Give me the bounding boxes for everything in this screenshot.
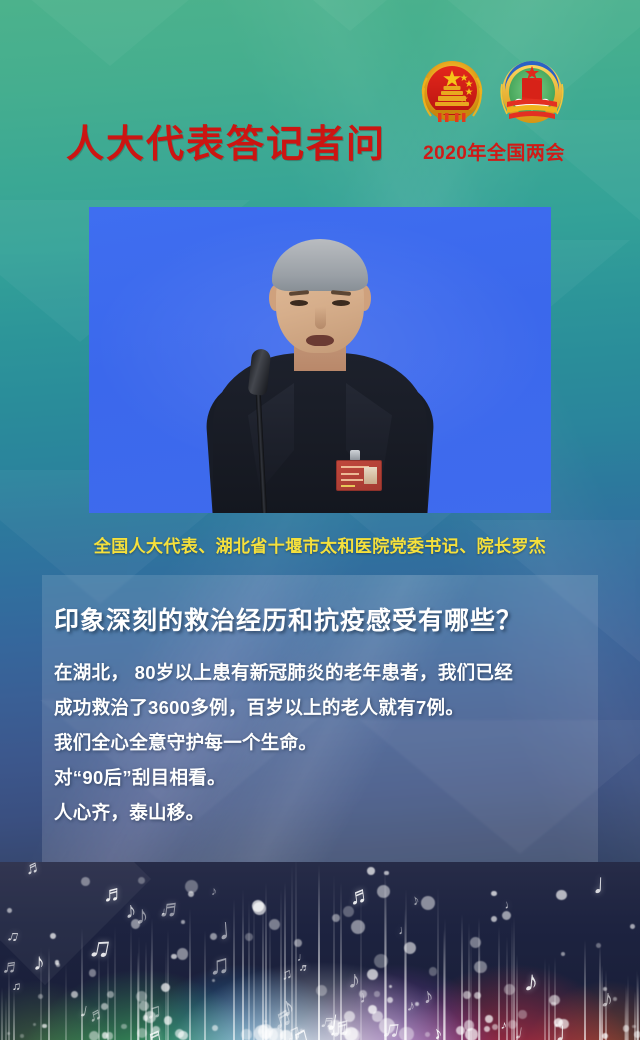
bokeh-dot [421,896,435,910]
light-beam [48,947,50,1040]
music-note-icon: ♪ [211,885,218,897]
bokeh-dot [241,1029,252,1040]
music-note-icon: ♪ [421,985,435,1007]
poster-header: 人大代表答记者问 [0,0,640,200]
bokeh-dot [33,1023,36,1026]
bokeh-dot [596,943,601,948]
cppcc-emblem-icon [499,58,565,130]
music-note-icon: ♪ [523,968,540,998]
bokeh-dot [556,890,566,900]
light-beam [461,914,463,1040]
bokeh-dot [89,1031,99,1040]
eye-left [290,300,308,306]
music-note-icon: ♬ [141,1022,172,1040]
bokeh-dot [630,924,635,929]
bokeh-dot [474,992,481,999]
light-beam [1,987,3,1040]
bokeh-dot [367,969,378,980]
question-headline: 印象深刻的救治经历和抗疫感受有哪些？ [54,601,522,637]
music-note-icon: ♪ [33,951,45,975]
bokeh-dot [177,948,188,959]
bokeh-dot [81,877,90,886]
nose [315,307,326,329]
music-note-icon: ♫ [280,966,294,983]
bokeh-dot [367,867,375,875]
music-note-icon: ♫ [146,1001,163,1023]
answer-line: 成功救治了3600多例，百岁以上的老人就有7例。 [54,690,588,725]
bokeh-dot [107,991,114,998]
music-note-icon: ♩ [217,912,250,945]
light-beam [138,936,140,1040]
bokeh-dot [634,1031,640,1038]
bokeh-dot [561,952,565,956]
bokeh-dot [463,991,471,999]
music-note-icon: ♩ [325,1007,358,1040]
bokeh-dot [20,1034,24,1038]
bokeh-dot [188,891,194,897]
bokeh-dot [161,983,170,992]
suit-jacket [213,353,427,513]
badge-portrait [364,467,377,484]
hair [272,239,368,291]
music-note-icon: ♩ [555,1018,585,1040]
eye-right [332,300,350,306]
footer-corner-shape [0,862,151,985]
light-beam [65,963,67,1040]
bokeh-dot [368,1005,377,1014]
music-note-icon: ♫ [284,1021,313,1040]
bokeh-dot [332,914,340,922]
bokeh-dot [38,994,44,1000]
light-beam [360,890,362,1040]
answer-line: 我们全心全意守护每一个生命。 [54,725,588,760]
bokeh-dot [504,984,515,995]
bokeh-dot [623,1025,629,1031]
bokeh-dot [121,1024,127,1030]
light-beam [437,888,439,1040]
photo-caption: 全国人大代表、湖北省十堰市太和医院党委书记、院长罗杰 [0,532,640,557]
page-title: 人大代表答记者问 [66,113,386,168]
speaker-photo [89,207,551,513]
light-beam [405,889,407,1040]
answer-line: 人心齐，泰山移。 [54,795,588,830]
music-note-icon: ♩ [358,987,377,1006]
music-note-icon: ♫ [380,1015,403,1040]
bokeh-dot [56,963,60,967]
music-note-icon: ♩ [513,1021,537,1040]
bokeh-dot [491,891,497,897]
bokeh-dot [71,991,78,998]
badge-text-line [341,473,359,475]
music-note-icon: ♪ [405,999,416,1016]
light-beam [318,864,320,1040]
bokeh-dot [484,1026,490,1032]
light-beam [636,970,638,1040]
music-note-icon: ♬ [103,882,126,905]
music-note-icon: ♬ [298,962,311,975]
light-beam [13,989,15,1040]
light-beam [130,923,132,1040]
bokeh-dot [502,911,512,921]
bokeh-dot [485,1015,493,1023]
music-note-icon: ♩ [397,923,411,937]
light-beam [478,918,480,1040]
bokeh-dot [404,942,417,955]
music-note-icon: ♩ [592,870,622,900]
badge-text-line [341,479,363,481]
bokeh-dot [491,916,498,923]
music-note-icon: ♩ [503,897,517,911]
speaker-figure [170,207,470,513]
bokeh-dot [269,919,281,931]
music-note-icon: ♪ [136,902,149,928]
light-beam [544,958,546,1040]
answer-line: 对“90后”刮目相看。 [54,760,588,795]
bokeh-dot [316,985,327,996]
bokeh-dot [374,954,388,968]
light-beam [81,928,83,1040]
light-beam [498,926,500,1040]
bokeh-dot [389,985,392,988]
light-beam [269,912,271,1040]
national-emblem-prc-icon [419,58,485,130]
light-beam [204,930,206,1040]
light-beam [189,908,191,1040]
delegate-badge [336,460,382,491]
bokeh-dot [632,1025,636,1029]
bokeh-dot [456,1026,465,1035]
bokeh-dot [377,885,390,898]
badge-text-line [341,485,355,487]
bokeh-dot [212,1025,219,1032]
emblem-group [419,58,567,132]
bokeh-dot [102,1032,109,1039]
bokeh-dot [210,933,218,941]
light-beam [625,985,627,1040]
bokeh-dot [425,1032,430,1037]
bokeh-dot [384,871,388,875]
bokeh-dot [429,967,438,976]
music-note-icon: ♪ [600,986,615,1012]
bokeh-dot [89,969,97,977]
answer-body: 在湖北， 80岁以上患有新冠肺炎的老年患者，我们已经 成功救治了3600多例，百… [54,655,588,830]
music-note-icon: ♬ [23,862,44,877]
light-beam [253,899,255,1040]
answer-line: 在湖北， 80岁以上患有新冠肺炎的老年患者，我们已经 [54,655,588,690]
bokeh-dot [294,939,302,947]
music-decoration-footer: ♫♬♬♪♩♫♪♬♫♪♩♬♪♪♬♪♩♪♬♫♩♬♩♬♩♫♩♪♪♫♬♩♩♩♪♩♬♫♫♪… [0,862,640,1040]
bokeh-dot [399,1027,414,1040]
bokeh-dot [7,1032,10,1035]
bokeh-dot [470,937,482,949]
music-note-icon: ♬ [86,1003,108,1025]
bokeh-dot [602,1033,608,1039]
music-note-icon: ♬ [347,882,374,909]
music-note-icon: ♩ [160,907,172,919]
bokeh-dot [474,961,487,974]
bokeh-dot [42,1024,47,1029]
bokeh-dot [387,997,393,1003]
light-beam [114,926,116,1040]
music-note-icon: ♪ [410,892,421,909]
year-label: 2020年全国两会 [414,138,574,165]
bokeh-dot [178,1031,188,1040]
bokeh-dot [351,920,365,934]
quote-panel: 印象深刻的救治经历和抗疫感受有哪些？ 在湖北， 80岁以上患有新冠肺炎的老年患者… [42,575,598,862]
light-beam [443,929,445,1040]
bokeh-dot [465,1028,478,1040]
bokeh-dot [258,1029,263,1034]
poster-root: 人大代表答记者问 [0,0,640,1040]
bokeh-dot [171,954,177,960]
light-beam [584,940,586,1040]
bokeh-dot [518,1010,526,1018]
mouth [306,335,334,346]
music-note-icon: ♬ [1,956,23,978]
music-note-icon: ♫ [12,979,22,992]
music-note-icon: ♫ [209,951,230,979]
